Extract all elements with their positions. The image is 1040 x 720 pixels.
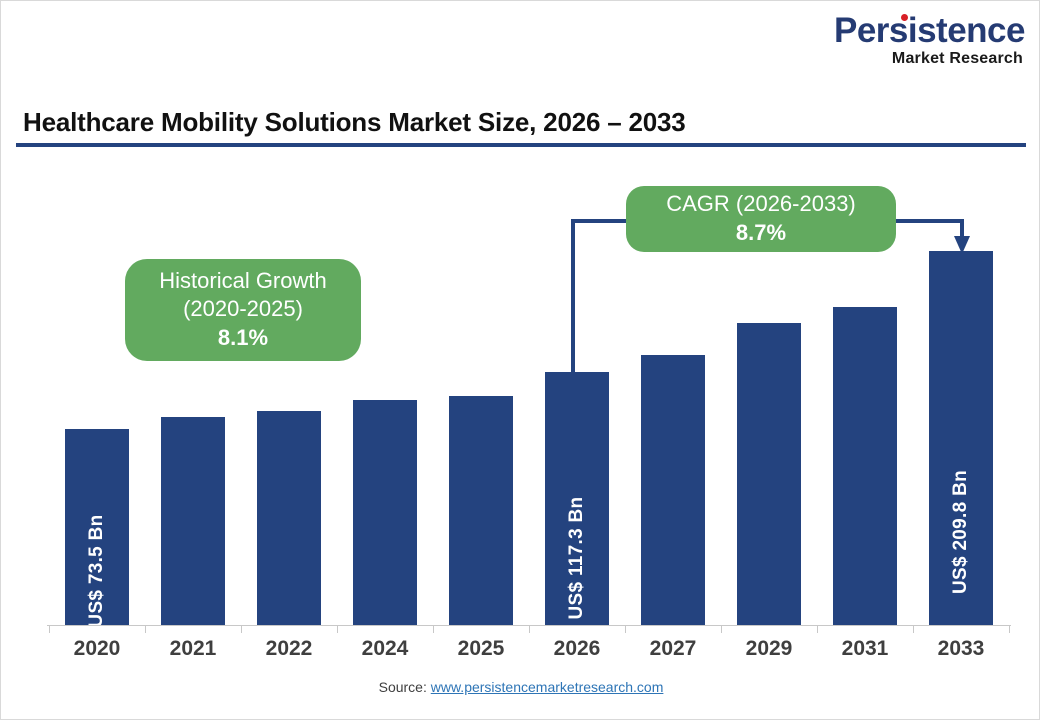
source-prefix: Source: [379, 679, 431, 695]
x-axis-label-2027: 2027 [625, 637, 721, 661]
bar-2031 [833, 307, 897, 625]
callout-cagr: CAGR (2026-2033) 8.7% [626, 186, 896, 252]
x-axis-tick-2 [241, 625, 242, 633]
bar-2021 [161, 417, 225, 625]
x-axis-tick-4 [433, 625, 434, 633]
callout-historical-growth: Historical Growth (2020-2025) 8.1% [125, 259, 361, 361]
x-axis-label-2024: 2024 [337, 637, 433, 661]
x-axis-tick-5 [529, 625, 530, 633]
bar-2029 [737, 323, 801, 625]
x-axis-tick-9 [913, 625, 914, 633]
bar-2020: US$ 73.5 Bn [65, 429, 129, 625]
callout-historical-line2: (2020-2025) [183, 295, 303, 323]
bar-2027 [641, 355, 705, 625]
x-axis-tick-7 [721, 625, 722, 633]
bar-2033: US$ 209.8 Bn [929, 251, 993, 625]
x-axis-tick-3 [337, 625, 338, 633]
bar-value-label-2033: US$ 209.8 Bn [950, 470, 972, 594]
bar-value-label-2026: US$ 117.3 Bn [566, 497, 588, 620]
x-axis-label-2026: 2026 [529, 637, 625, 661]
x-axis-tick-end [1009, 625, 1010, 633]
x-axis-label-2029: 2029 [721, 637, 817, 661]
callout-cagr-value: 8.7% [736, 218, 786, 248]
x-axis-label-2022: 2022 [241, 637, 337, 661]
callout-cagr-line1: CAGR (2026-2033) [666, 190, 856, 218]
source-note: Source: www.persistencemarketresearch.co… [1, 679, 1040, 695]
callout-historical-line1: Historical Growth [159, 267, 326, 295]
x-axis-tick-8 [817, 625, 818, 633]
bar-2022 [257, 411, 321, 625]
bar-2025 [449, 396, 513, 625]
callout-historical-value: 8.1% [218, 323, 268, 353]
chart-page: Persistence Market Research Healthcare M… [0, 0, 1040, 720]
x-axis-label-2031: 2031 [817, 637, 913, 661]
bar-2024 [353, 400, 417, 625]
bar-2026: US$ 117.3 Bn [545, 372, 609, 625]
x-axis-tick-6 [625, 625, 626, 633]
x-axis-label-2025: 2025 [433, 637, 529, 661]
bar-value-label-2020: US$ 73.5 Bn [86, 514, 108, 627]
x-axis-label-2033: 2033 [913, 637, 1009, 661]
x-axis-tick-0 [49, 625, 50, 633]
x-axis-tick-1 [145, 625, 146, 633]
x-axis-label-2020: 2020 [49, 637, 145, 661]
source-link[interactable]: www.persistencemarketresearch.com [431, 679, 664, 695]
x-axis-label-2021: 2021 [145, 637, 241, 661]
